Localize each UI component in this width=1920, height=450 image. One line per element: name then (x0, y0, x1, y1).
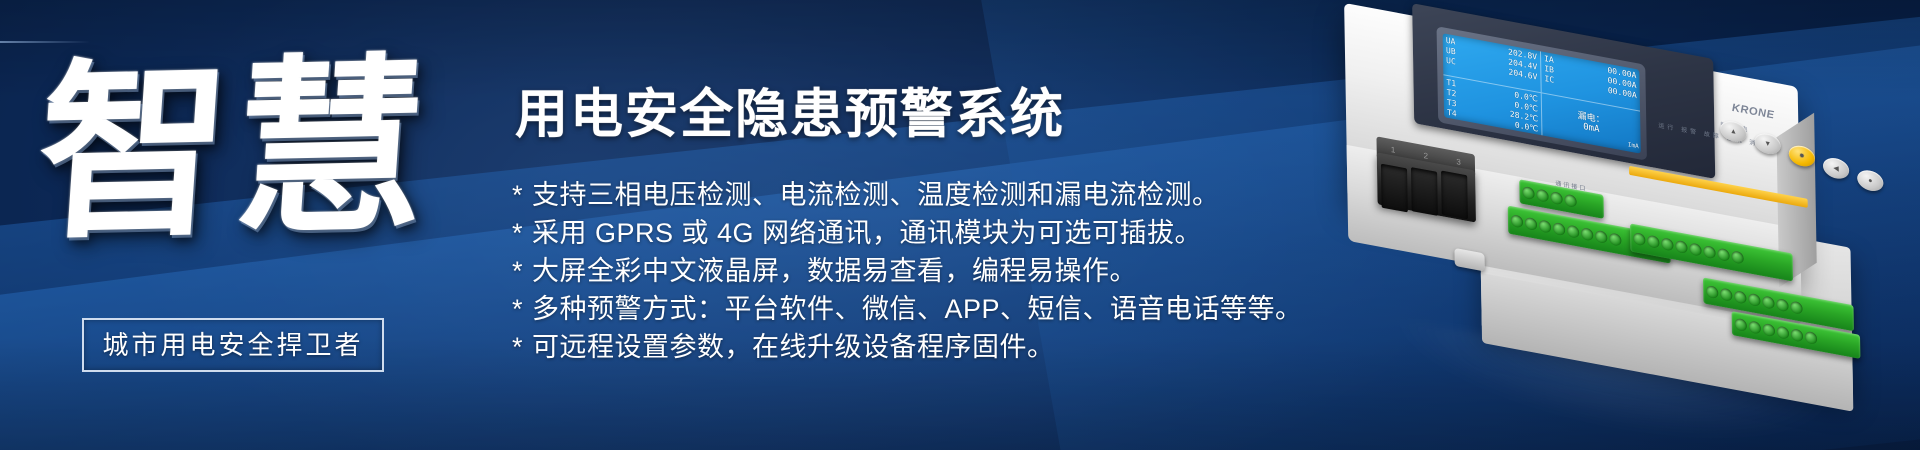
list-item: *大屏全彩中文液晶屏，数据易查看，编程易操作。 (512, 252, 1312, 290)
feature-list: *支持三相电压检测、电流检测、温度检测和漏电流检测。 *采用 GPRS 或 4G… (512, 176, 1312, 366)
terminal-pin (1633, 232, 1645, 246)
terminal-pin (1703, 245, 1715, 259)
list-item: *可远程设置参数，在线升级设备程序固件。 (512, 328, 1312, 366)
lcd-uc-label: UC (1446, 56, 1456, 68)
connector-slot (1441, 171, 1468, 220)
list-item-label: 可远程设置参数，在线升级设备程序固件。 (532, 332, 1055, 362)
terminal-pin (1553, 222, 1565, 236)
list-item-label: 大屏全彩中文液晶屏，数据易查看，编程易操作。 (532, 256, 1137, 286)
terminal-pin (1564, 194, 1576, 208)
terminal-pin (1567, 225, 1579, 239)
terminal-pin (1762, 295, 1774, 309)
back-button[interactable]: ◀ (1823, 156, 1849, 181)
bullet-marker-icon: * (512, 218, 523, 248)
terminal-pin (1790, 301, 1802, 315)
device-illustration: UA202.8V UB204.4V UC204.6V IA00.00A IB00… (1326, 3, 1920, 443)
terminal-pin (1717, 248, 1729, 262)
terminal-pin (1734, 290, 1746, 304)
lcd-t4-label: T4 (1447, 108, 1457, 120)
connector-number-2: 2 (1423, 151, 1428, 161)
bullet-marker-icon: * (512, 180, 523, 210)
slogan-text: 城市用电安全捍卫者 (102, 332, 363, 358)
terminal-pin (1675, 240, 1687, 254)
terminal-pin (1550, 191, 1562, 205)
slogan-box: 城市用电安全捍卫者 (82, 318, 384, 372)
up-button[interactable]: ▲ (1720, 119, 1746, 144)
connector-slot (1381, 164, 1408, 213)
terminal-pin (1777, 326, 1789, 340)
list-item-label: 多种预警方式：平台软件、微信、APP、短信、语音电话等等。 (532, 294, 1303, 324)
connector-number-3: 3 (1456, 157, 1461, 167)
terminal-pin (1749, 320, 1761, 334)
terminal-pin (1735, 318, 1747, 332)
terminal-pin (1763, 323, 1775, 337)
list-item-label: 支持三相电压检测、电流检测、温度检测和漏电流检测。 (532, 180, 1220, 210)
lcd-leakage-value: 0mA (1583, 122, 1599, 135)
down-button[interactable]: ▼ (1754, 131, 1780, 156)
terminal-pin (1689, 242, 1701, 256)
connector-number-1: 1 (1391, 144, 1396, 154)
terminal-pin (1647, 235, 1659, 249)
promo-banner: 智慧 城市用电安全捍卫者 用电安全隐患预警系统 *支持三相电压检测、电流检测、温… (0, 0, 1920, 450)
terminal-pin (1511, 214, 1523, 228)
bullet-marker-icon: * (512, 294, 523, 324)
bullet-marker-icon: * (512, 256, 523, 286)
terminal-pin (1748, 293, 1760, 307)
terminal-pin (1522, 186, 1534, 200)
terminal-pin (1791, 328, 1803, 342)
bullet-marker-icon: * (512, 332, 523, 362)
terminal-pin (1536, 188, 1548, 202)
terminal-pin (1609, 232, 1621, 246)
terminal-pin (1706, 285, 1718, 299)
product-image: UA202.8V UB204.4V UC204.6V IA00.00A IB00… (1330, 8, 1920, 438)
terminal-pin (1661, 237, 1673, 251)
connector-slot (1411, 167, 1438, 216)
terminal-pin (1731, 250, 1743, 264)
terminal-pin (1595, 230, 1607, 244)
lcd-leakage-unit: ImA (1628, 140, 1639, 152)
terminal-pin (1805, 331, 1817, 345)
lcd-ic-label: IC (1544, 74, 1554, 86)
terminal-pin (1525, 217, 1537, 231)
list-item: *采用 GPRS 或 4G 网络通讯，通讯模块为可选可插拔。 (512, 214, 1312, 252)
terminal-pin (1581, 227, 1593, 241)
enter-button[interactable]: ● (1857, 168, 1883, 193)
page-title: 用电安全隐患预警系统 (515, 88, 1065, 141)
calligraphy-title: 智慧 (51, 18, 419, 280)
list-item: *多种预警方式：平台软件、微信、APP、短信、语音电话等等。 (512, 290, 1312, 328)
list-item-label: 采用 GPRS 或 4G 网络通讯，通讯模块为可选可插拔。 (532, 218, 1202, 248)
terminal-pin (1776, 298, 1788, 312)
list-item: *支持三相电压检测、电流检测、温度检测和漏电流检测。 (512, 176, 1312, 214)
alarm-mute-button[interactable]: ✹ (1789, 144, 1815, 169)
terminal-pin (1539, 219, 1551, 233)
terminal-pin (1720, 288, 1732, 302)
